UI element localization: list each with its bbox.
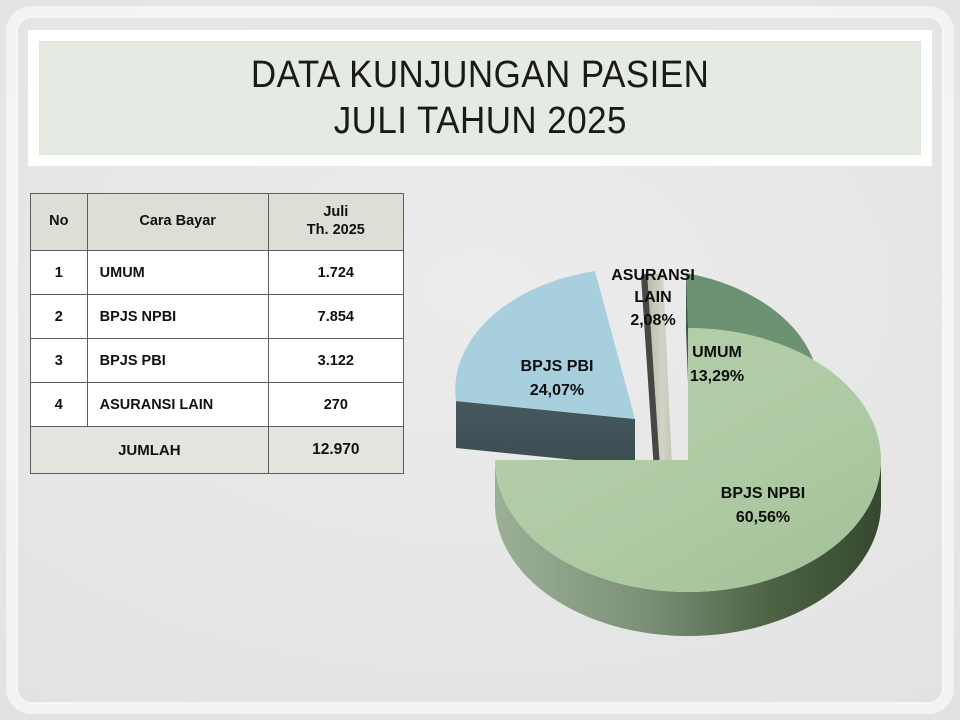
column-header-period-line-1: Juli — [269, 204, 403, 222]
cell-value: 270 — [268, 383, 403, 427]
slide-canvas: DATA KUNJUNGAN PASIEN JULI TAHUN 2025 No… — [0, 0, 960, 720]
table-header: No Cara Bayar Juli Th. 2025 — [31, 194, 404, 251]
patient-visit-table: No Cara Bayar Juli Th. 2025 1 UMUM 1.724… — [30, 193, 404, 474]
column-header-cara-bayar: Cara Bayar — [87, 194, 268, 251]
table-header-row: No Cara Bayar Juli Th. 2025 — [31, 194, 404, 251]
pie-label-bpjs-npbi-name: BPJS NPBI — [721, 485, 805, 502]
table-row: 2 BPJS NPBI 7.854 — [31, 295, 404, 339]
pie-label-asuransi-lain-line2: LAIN — [634, 289, 671, 306]
column-header-no: No — [31, 194, 88, 251]
column-header-period: Juli Th. 2025 — [268, 194, 403, 251]
table-total-row: JUMLAH 12.970 — [31, 427, 404, 474]
cell-no: 3 — [31, 339, 88, 383]
table-row: 3 BPJS PBI 3.122 — [31, 339, 404, 383]
cell-value: 3.122 — [268, 339, 403, 383]
table-row: 1 UMUM 1.724 — [31, 251, 404, 295]
pie-label-bpjs-npbi-percent: 60,56% — [736, 509, 790, 526]
cell-no: 4 — [31, 383, 88, 427]
pie-label-bpjs-pbi-percent: 24,07% — [530, 382, 584, 399]
cell-no: 1 — [31, 251, 88, 295]
pie-label-bpjs-pbi-name: BPJS PBI — [521, 358, 594, 375]
pie-label-umum-percent: 13,29% — [690, 368, 744, 385]
table-footer: JUMLAH 12.970 — [31, 427, 404, 474]
column-header-period-line-2: Th. 2025 — [269, 222, 403, 240]
pie-label-asuransi-lain-percent: 2,08% — [630, 312, 675, 329]
pie-chart: ASURANSI LAIN 2,08% UMUM 13,29% BPJS PBI… — [420, 240, 940, 640]
title-inner-panel: DATA KUNJUNGAN PASIEN JULI TAHUN 2025 — [39, 41, 921, 155]
total-label: JUMLAH — [31, 427, 269, 474]
title-box: DATA KUNJUNGAN PASIEN JULI TAHUN 2025 — [28, 30, 932, 166]
page-title-line-1: DATA KUNJUNGAN PASIEN — [251, 52, 709, 98]
cell-no: 2 — [31, 295, 88, 339]
cell-cara-bayar: BPJS NPBI — [87, 295, 268, 339]
total-value: 12.970 — [268, 427, 403, 474]
cell-cara-bayar: BPJS PBI — [87, 339, 268, 383]
cell-value: 7.854 — [268, 295, 403, 339]
pie-label-umum-name: UMUM — [692, 344, 742, 361]
pie-label-asuransi-lain-line1: ASURANSI — [611, 267, 695, 284]
page-title-line-2: JULI TAHUN 2025 — [333, 98, 626, 144]
cell-value: 1.724 — [268, 251, 403, 295]
cell-cara-bayar: UMUM — [87, 251, 268, 295]
table-body: 1 UMUM 1.724 2 BPJS NPBI 7.854 3 BPJS PB… — [31, 251, 404, 427]
cell-cara-bayar: ASURANSI LAIN — [87, 383, 268, 427]
table-row: 4 ASURANSI LAIN 270 — [31, 383, 404, 427]
